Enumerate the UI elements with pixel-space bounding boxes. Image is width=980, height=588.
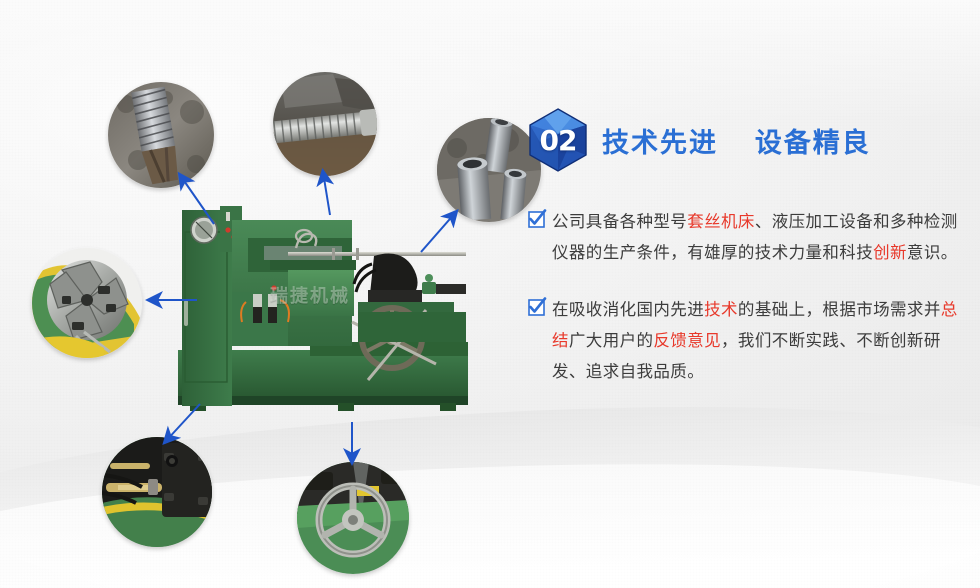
segment: 意识。 <box>907 243 958 262</box>
segment: 广大用户的 <box>569 331 654 350</box>
segment: 公司具备各种型号 <box>552 212 687 231</box>
segment-highlight: 技术 <box>704 300 738 319</box>
pipe-ends-image <box>437 118 541 222</box>
checkbox-checked-icon <box>528 211 545 228</box>
content-panel: 02 技术先进 设备精良 公司具备各种型号套丝机床、液压加工设备和多种检测仪器的… <box>528 108 958 413</box>
detail-photo-handwheel[interactable] <box>297 462 409 574</box>
detail-photo-threaded-rod[interactable] <box>108 82 214 188</box>
bullet-list: 公司具备各种型号套丝机床、液压加工设备和多种检测仪器的生产条件，有雄厚的技术力量… <box>528 206 958 387</box>
detail-photo-motor-gearbox[interactable] <box>102 437 212 547</box>
checkbox-checked-icon <box>528 299 545 316</box>
page-title: 技术先进 设备精良 <box>602 121 871 160</box>
segment: 在吸收消化国内先进 <box>552 300 704 319</box>
hexagon-gem-icon: 02 <box>528 108 588 172</box>
machine-watermark: 瑞捷机械 <box>270 282 350 308</box>
title-part-2: 设备精良 <box>755 128 871 159</box>
segment-highlight: 创新 <box>873 243 907 262</box>
detail-photo-pipe-ends[interactable] <box>437 118 541 222</box>
threaded-bar-image <box>273 72 377 176</box>
detail-photo-threaded-bar[interactable] <box>273 72 377 176</box>
segment-highlight: 反馈意见 <box>653 331 721 350</box>
threaded-rod-image <box>108 82 214 188</box>
badge-number: 02 <box>528 108 588 172</box>
title-part-1: 技术先进 <box>602 128 718 159</box>
detail-photo-die-head[interactable] <box>32 248 142 358</box>
bullet-item-2: 在吸收消化国内先进技术的基础上，根据市场需求并总结广大用户的反馈意见，我们不断实… <box>528 294 958 387</box>
die-head-chuck-image <box>32 248 142 358</box>
bullet-text-1: 公司具备各种型号套丝机床、液压加工设备和多种检测仪器的生产条件，有雄厚的技术力量… <box>552 206 958 268</box>
bullet-item-1: 公司具备各种型号套丝机床、液压加工设备和多种检测仪器的生产条件，有雄厚的技术力量… <box>528 206 958 268</box>
handwheel-image <box>297 462 409 574</box>
bullet-text-2: 在吸收消化国内先进技术的基础上，根据市场需求并总结广大用户的反馈意见，我们不断实… <box>552 294 958 387</box>
banner-stage: 瑞捷机械 <box>0 0 980 588</box>
section-header: 02 技术先进 设备精良 <box>528 108 958 172</box>
segment: 的基础上，根据市场需求并 <box>738 300 941 319</box>
motor-gearbox-image <box>102 437 212 547</box>
segment-highlight: 套丝机床 <box>687 212 755 231</box>
product-machine-photo: 瑞捷机械 <box>160 190 500 420</box>
